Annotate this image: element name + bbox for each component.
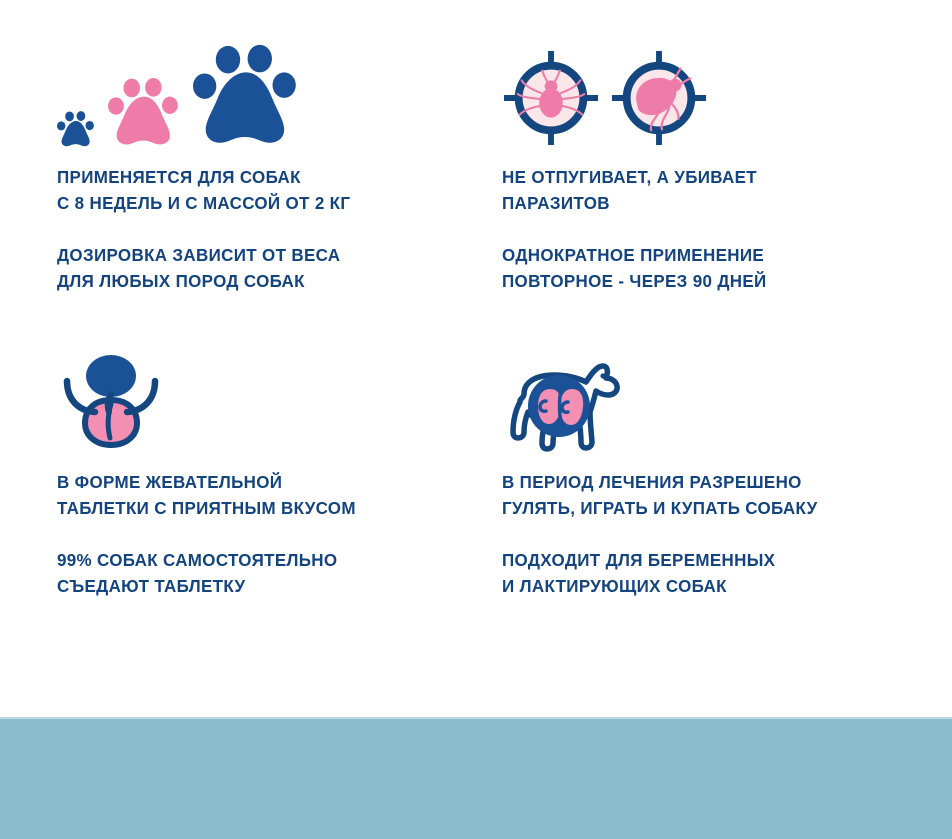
feature-line-secondary: ДОЗИРОВКА ЗАВИСИТ ОТ ВЕСА ДЛЯ ЛЮБЫХ ПОРО… — [57, 243, 489, 294]
feature-line-primary: В ПЕРИОД ЛЕЧЕНИЯ РАЗРЕШЕНО ГУЛЯТЬ, ИГРАТ… — [502, 470, 934, 521]
pregnant-dog-icon-group — [502, 348, 947, 460]
tick-target-icon — [502, 48, 600, 148]
paw-print-small-icon — [57, 108, 95, 148]
feature-block-dosage-for-dogs: ПРИМЕНЯЕТСЯ ДЛЯ СОБАК С 8 НЕДЕЛЬ И С МАС… — [57, 30, 502, 348]
band-top-edge — [0, 717, 952, 719]
feature-text-group: ПРИМЕНЯЕТСЯ ДЛЯ СОБАК С 8 НЕДЕЛЬ И С МАС… — [57, 165, 502, 294]
parasite-targets-icon-group — [502, 30, 947, 148]
dog-head-icon-group — [57, 348, 502, 460]
feature-grid: ПРИМЕНЯЕТСЯ ДЛЯ СОБАК С 8 НЕДЕЛЬ И С МАС… — [0, 0, 952, 717]
feature-line-secondary: ОДНОКРАТНОЕ ПРИМЕНЕНИЕ ПОВТОРНОЕ - ЧЕРЕЗ… — [502, 243, 934, 294]
feature-line-primary: НЕ ОТПУГИВАЕТ, А УБИВАЕТ ПАРАЗИТОВ — [502, 165, 934, 216]
paw-prints-icon-group — [57, 30, 502, 148]
feature-text-group: В ФОРМЕ ЖЕВАТЕЛЬНОЙ ТАБЛЕТКИ С ПРИЯТНЫМ … — [57, 470, 502, 599]
parasite-targets — [502, 48, 708, 148]
feature-block-kills-parasites: НЕ ОТПУГИВАЕТ, А УБИВАЕТ ПАРАЗИТОВ ОДНОК… — [502, 30, 947, 348]
feature-line-primary: ПРИМЕНЯЕТСЯ ДЛЯ СОБАК С 8 НЕДЕЛЬ И С МАС… — [57, 165, 489, 216]
feature-line-secondary: 99% СОБАК САМОСТОЯТЕЛЬНО СЪЕДАЮТ ТАБЛЕТК… — [57, 548, 489, 599]
feature-block-safe-during-treatment: В ПЕРИОД ЛЕЧЕНИЯ РАЗРЕШЕНО ГУЛЯТЬ, ИГРАТ… — [502, 348, 947, 638]
bottom-color-band — [0, 717, 952, 839]
feature-line-secondary: ПОДХОДИТ ДЛЯ БЕРЕМЕННЫХ И ЛАКТИРУЮЩИХ СО… — [502, 548, 934, 599]
paw-print-large-icon — [193, 36, 299, 148]
feature-block-chewable-tablet: В ФОРМЕ ЖЕВАТЕЛЬНОЙ ТАБЛЕТКИ С ПРИЯТНЫМ … — [57, 348, 502, 638]
dog-head-tongue-icon — [57, 354, 165, 454]
pregnant-dog-icon — [502, 354, 624, 454]
paw-prints — [57, 36, 299, 148]
infographic-canvas: ПРИМЕНЯЕТСЯ ДЛЯ СОБАК С 8 НЕДЕЛЬ И С МАС… — [0, 0, 952, 839]
feature-text-group: В ПЕРИОД ЛЕЧЕНИЯ РАЗРЕШЕНО ГУЛЯТЬ, ИГРАТ… — [502, 470, 947, 599]
flea-target-icon — [610, 48, 708, 148]
paw-print-medium-icon — [108, 72, 180, 148]
feature-line-primary: В ФОРМЕ ЖЕВАТЕЛЬНОЙ ТАБЛЕТКИ С ПРИЯТНЫМ … — [57, 470, 489, 521]
feature-text-group: НЕ ОТПУГИВАЕТ, А УБИВАЕТ ПАРАЗИТОВ ОДНОК… — [502, 165, 947, 294]
